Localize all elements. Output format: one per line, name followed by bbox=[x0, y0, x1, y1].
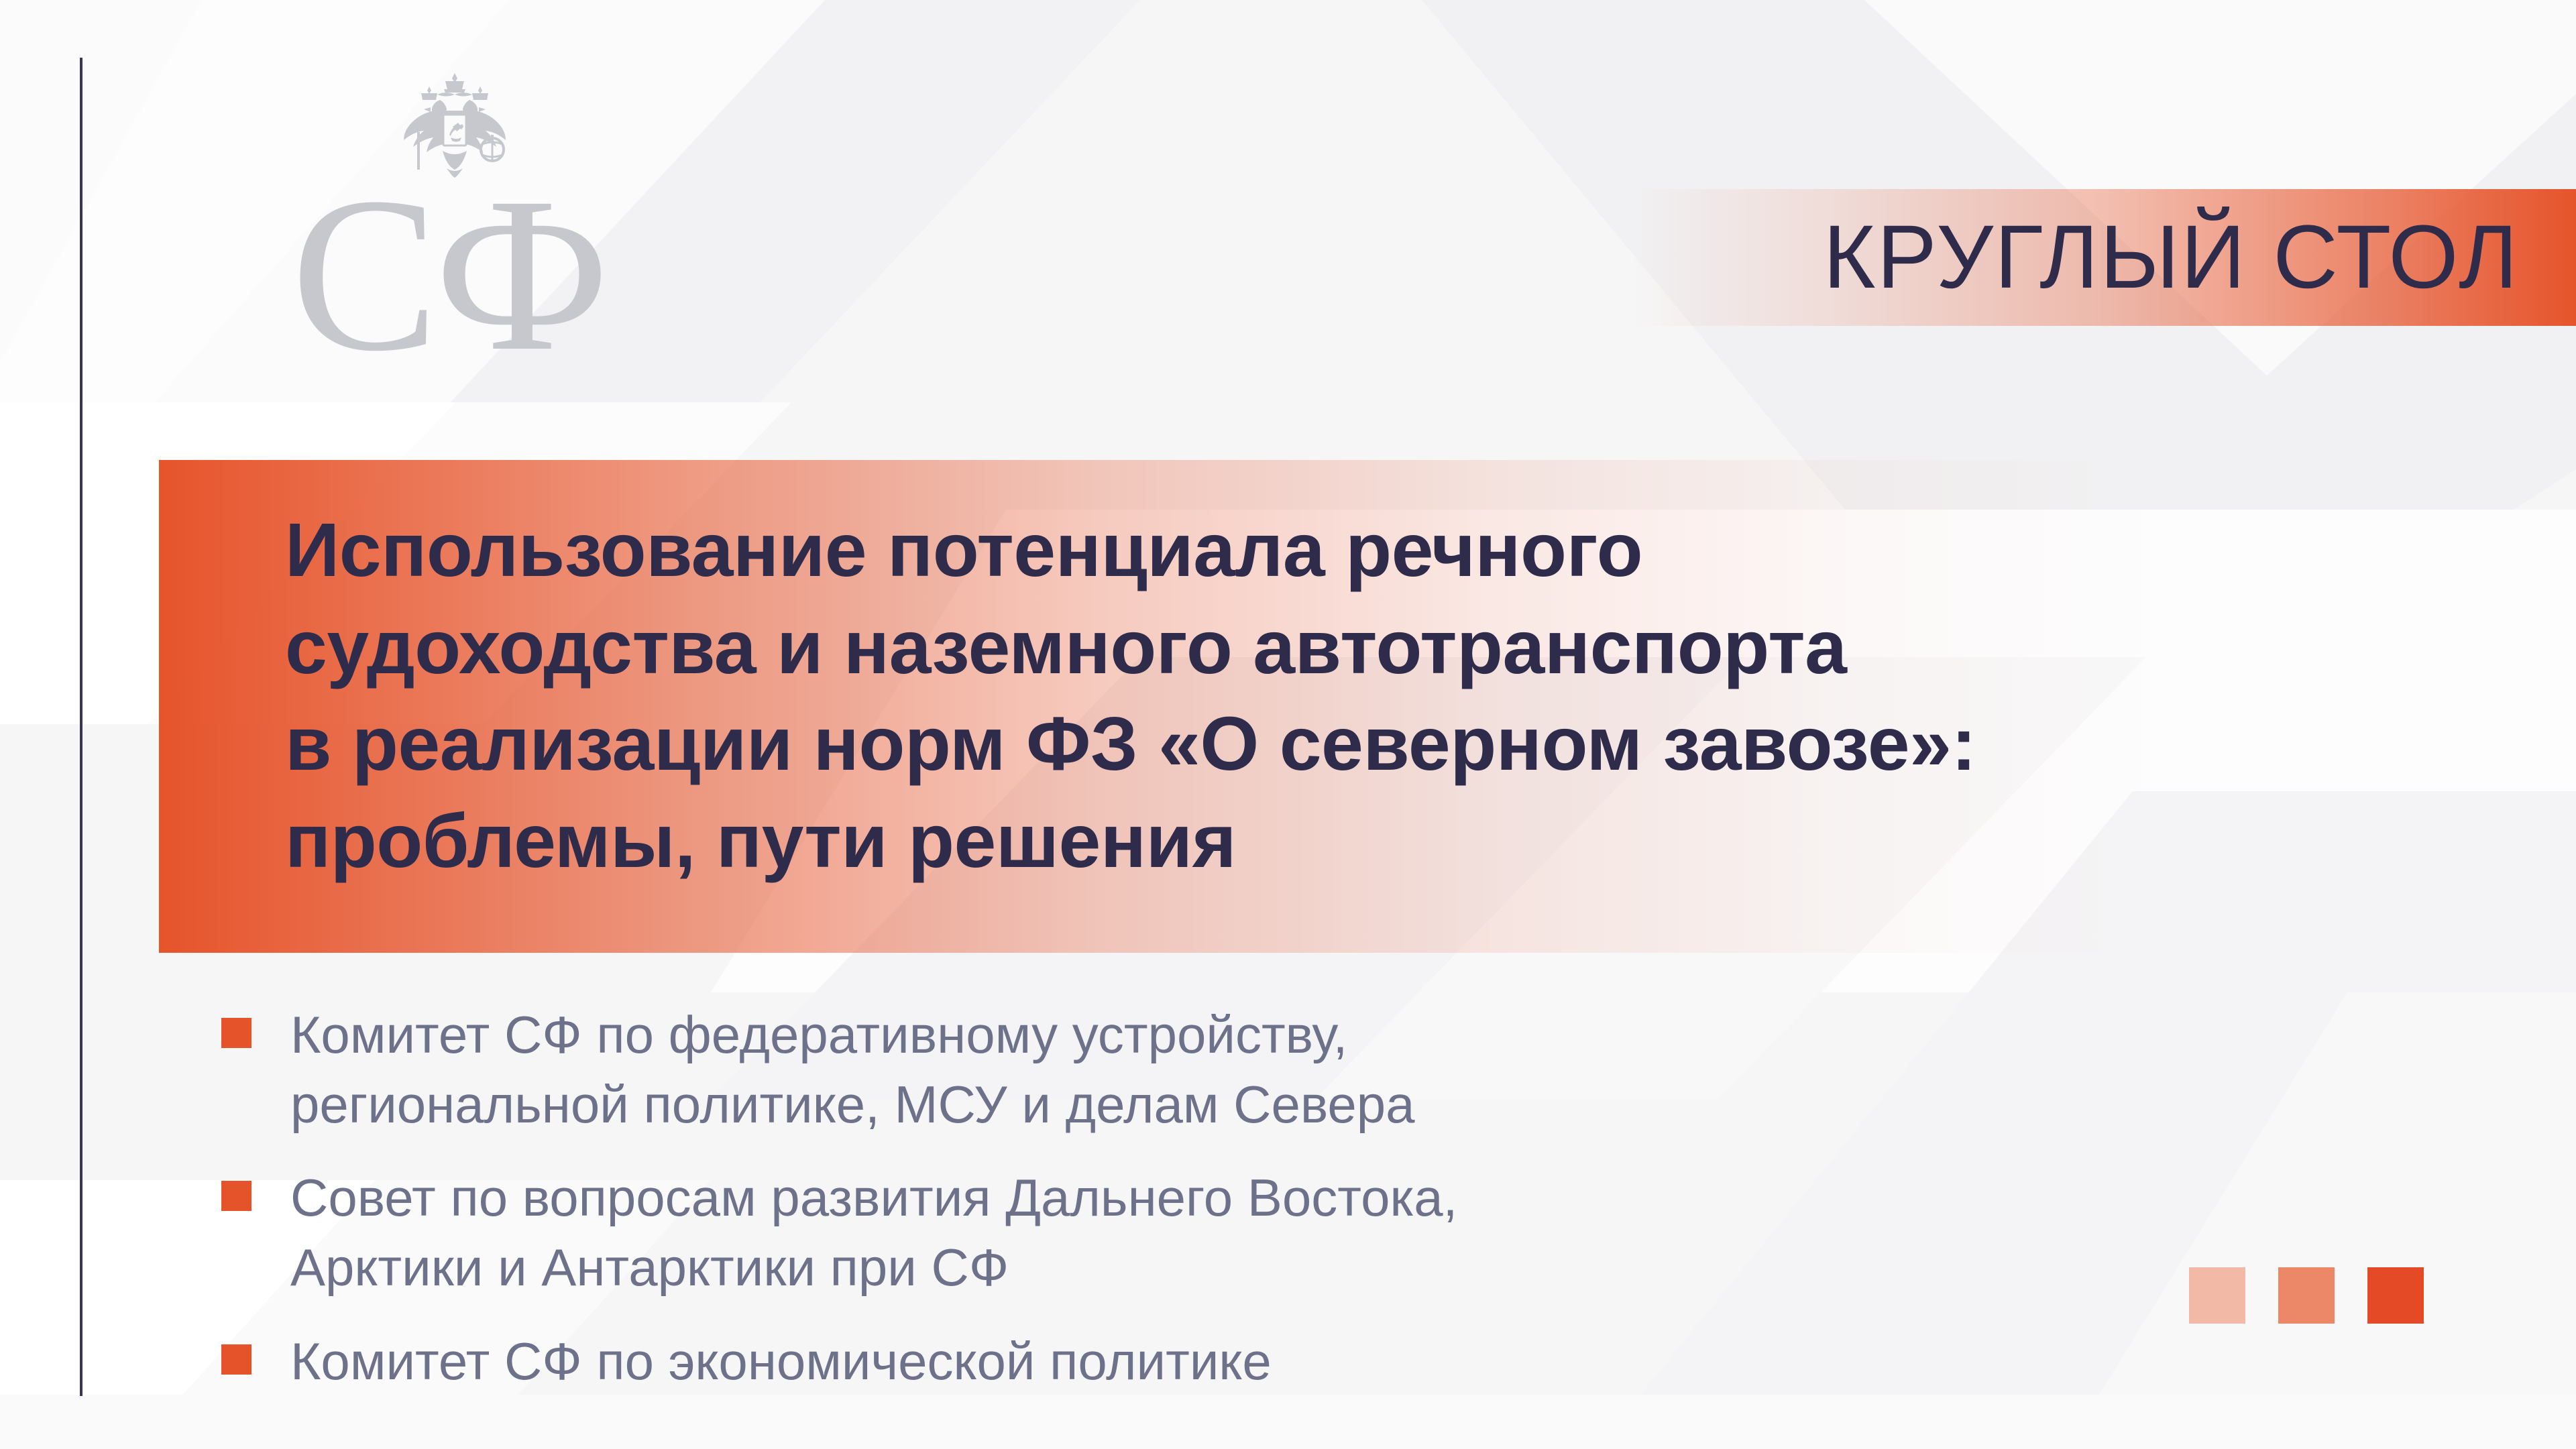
list-item: Совет по вопросам развития Дальнего Вост… bbox=[221, 1163, 2166, 1302]
list-item-label: Комитет СФ по экономической политике bbox=[290, 1327, 1272, 1397]
decorative-square-medium bbox=[2278, 1267, 2335, 1324]
square-bullet-icon bbox=[221, 1181, 251, 1211]
event-type-band: КРУГЛЫЙ СТОЛ bbox=[1630, 189, 2576, 326]
sf-monogram: СФ bbox=[291, 164, 606, 386]
presentation-slide: СФ КРУГЛЫЙ СТОЛ Использование потенциала… bbox=[0, 0, 2576, 1449]
list-item-label: Совет по вопросам развития Дальнего Вост… bbox=[290, 1163, 1457, 1302]
federation-council-logo: СФ bbox=[268, 70, 657, 359]
list-item: Комитет СФ по экономической политике bbox=[221, 1327, 2166, 1397]
slide-title: Использование потенциала речного судоход… bbox=[285, 502, 2364, 890]
left-vertical-rule bbox=[80, 58, 82, 1396]
decorative-squares bbox=[2189, 1267, 2424, 1324]
square-bullet-icon bbox=[221, 1344, 251, 1375]
organizer-list: Комитет СФ по федеративному устройству, … bbox=[221, 1000, 2166, 1421]
decorative-square-dark bbox=[2367, 1267, 2424, 1324]
decorative-square-light bbox=[2189, 1267, 2245, 1324]
slide-title-band: Использование потенциала речного судоход… bbox=[159, 460, 2392, 953]
list-item: Комитет СФ по федеративному устройству, … bbox=[221, 1000, 2166, 1139]
event-type-label: КРУГЛЫЙ СТОЛ bbox=[1823, 213, 2519, 302]
square-bullet-icon bbox=[221, 1018, 251, 1048]
list-item-label: Комитет СФ по федеративному устройству, … bbox=[290, 1000, 1415, 1139]
